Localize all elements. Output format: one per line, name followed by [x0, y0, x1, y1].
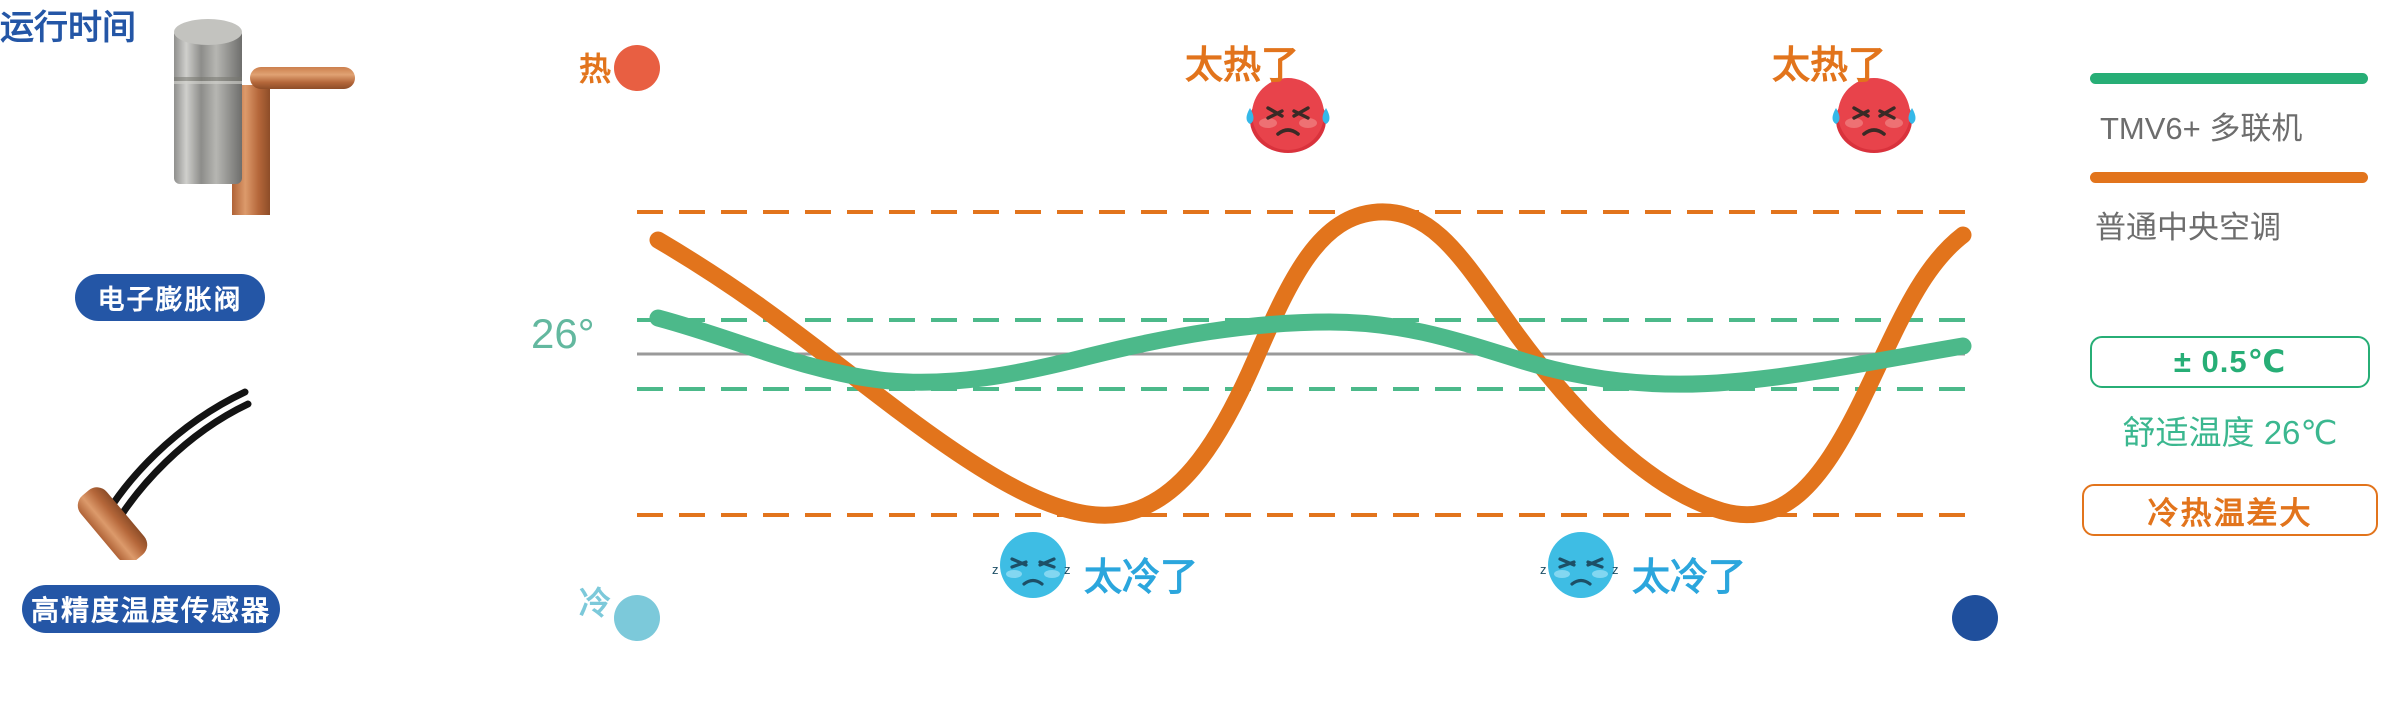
annotation-too-cold-2: 太冷了 — [1632, 546, 1746, 601]
legend-label-tmv6plus: TMV6+ 多联机 — [2100, 103, 2302, 148]
hot-face-icon-1 — [1247, 78, 1330, 153]
origin-cold-dot — [614, 595, 660, 641]
axis-label-hot: 热 — [579, 44, 611, 90]
svg-text:z: z — [992, 562, 999, 577]
temperature-gap-badge: 冷热温差大 — [2082, 484, 2378, 536]
hot-endpoint-dot — [614, 45, 660, 91]
svg-text:z: z — [1540, 562, 1547, 577]
legend-swatch-tmv6plus — [2090, 73, 2368, 84]
comfort-temperature-text: 舒适温度 26℃ — [2082, 406, 2378, 454]
annotation-too-cold-1: 太冷了 — [1084, 546, 1198, 601]
series-line-tmv6plus — [658, 318, 1963, 384]
series-line-conventional-ac — [658, 212, 1963, 515]
legend-swatch-conventional-ac — [2090, 172, 2368, 183]
legend-label-conventional-ac: 普通中央空调 — [2095, 202, 2281, 247]
time-endpoint-dot — [1952, 595, 1998, 641]
infographic-canvas: 电子膨胀阀 高精度温度传感器 — [0, 0, 2400, 718]
cold-face-icon-2: z z — [1540, 532, 1619, 598]
annotation-too-hot-1: 太热了 — [1185, 34, 1299, 89]
accuracy-badge: ± 0.5℃ — [2090, 336, 2370, 388]
axis-label-cold: 冷 — [579, 578, 611, 624]
axis-label-setpoint: 26° — [531, 310, 595, 358]
hot-face-icon-2 — [1833, 78, 1916, 153]
svg-text:z: z — [1064, 562, 1071, 577]
svg-text:z: z — [1612, 562, 1619, 577]
annotation-too-hot-2: 太热了 — [1772, 34, 1886, 89]
temperature-stability-chart: z z z z — [0, 0, 2400, 718]
cold-face-icon-1: z z — [992, 532, 1071, 598]
